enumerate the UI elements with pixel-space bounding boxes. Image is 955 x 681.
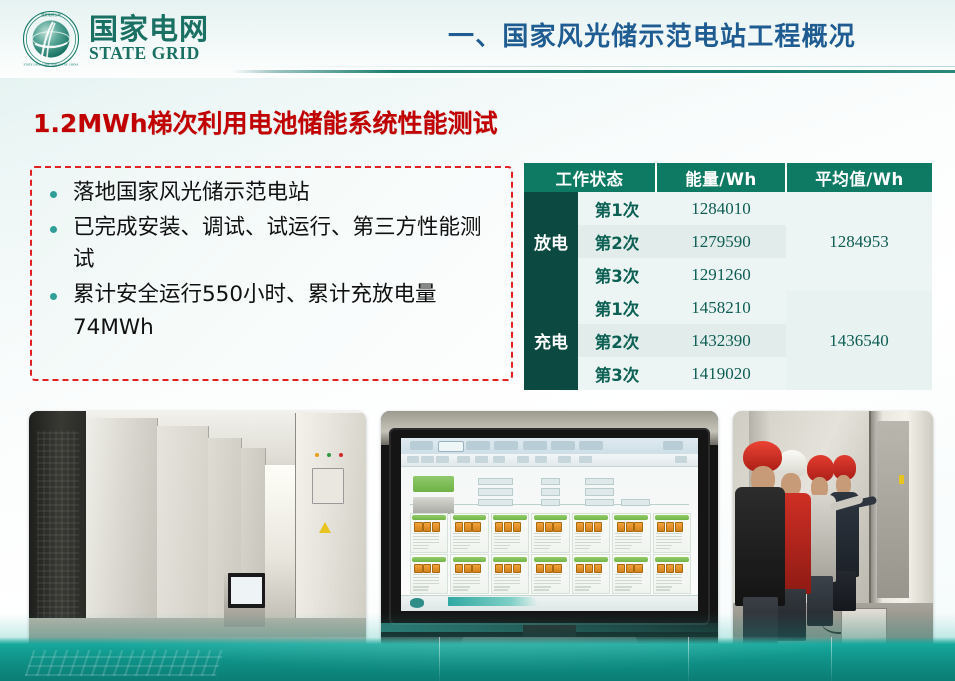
slide-root: 国家电网公司 STATE GRID CORPORATION OF CHINA 国… (0, 0, 955, 681)
energy-value: 1291260 (656, 258, 786, 291)
bullet-dot-icon (50, 191, 57, 198)
state-grid-wordmark: 国家电网 STATE GRID (89, 14, 209, 65)
table-row: 放电 第1次 1284010 1284953 (524, 192, 932, 225)
state-grid-logo: 国家电网公司 STATE GRID CORPORATION OF CHINA 国… (22, 10, 209, 68)
column-header-average: 平均值/Wh (786, 163, 932, 192)
highlights-box: 落地国家风光储示范电站 已完成安装、调试、试运行、第三方性能测试 累计安全运行5… (30, 166, 513, 381)
run-label: 第1次 (578, 291, 656, 324)
column-header-state: 工作状态 (524, 163, 656, 192)
header-divider-light (260, 66, 955, 67)
energy-value: 1458210 (656, 291, 786, 324)
slide-footer-band (0, 637, 955, 681)
average-value-discharge: 1284953 (786, 192, 932, 291)
svg-text:STATE GRID CORPORATION OF CHIN: STATE GRID CORPORATION OF CHINA (23, 63, 79, 67)
state-cell-charge: 充电 (524, 291, 578, 390)
header-divider (232, 70, 955, 73)
energy-value: 1432390 (656, 324, 786, 357)
list-item: 已完成安装、调试、试运行、第三方性能测试 (42, 212, 499, 277)
run-label: 第1次 (578, 192, 656, 225)
bullet-dot-icon (50, 226, 57, 233)
state-cell-discharge: 放电 (524, 192, 578, 291)
section-heading: 一、国家风光储示范电站工程概况 (448, 16, 856, 53)
logo-chinese-text: 国家电网 (89, 14, 209, 44)
energy-value: 1284010 (656, 192, 786, 225)
svg-text:国家电网公司: 国家电网公司 (41, 12, 61, 17)
column-header-energy: 能量/Wh (656, 163, 786, 192)
page-title: 1.2MWh梯次利用电池储能系统性能测试 (33, 104, 498, 140)
list-item-label: 累计安全运行550小时、累计充放电量74MWh (73, 279, 499, 344)
list-item: 累计安全运行550小时、累计充放电量74MWh (42, 279, 499, 344)
list-item-label: 已完成安装、调试、试运行、第三方性能测试 (73, 212, 499, 277)
energy-value: 1419020 (656, 357, 786, 390)
run-label: 第2次 (578, 225, 656, 258)
slide-header: 国家电网公司 STATE GRID CORPORATION OF CHINA 国… (0, 0, 955, 78)
solar-panel-graphic (24, 650, 224, 676)
run-label: 第2次 (578, 324, 656, 357)
energy-test-table: 工作状态 能量/Wh 平均值/Wh 放电 第1次 1284010 1284953… (524, 163, 932, 390)
bullet-dot-icon (50, 293, 57, 300)
table-header-row: 工作状态 能量/Wh 平均值/Wh (524, 163, 932, 192)
state-grid-globe-logo: 国家电网公司 STATE GRID CORPORATION OF CHINA (22, 10, 80, 68)
list-item: 落地国家风光储示范电站 (42, 177, 499, 210)
energy-value: 1279590 (656, 225, 786, 258)
logo-en-grid: GRID (152, 43, 200, 63)
logo-en-state: STATE (89, 43, 147, 63)
average-value-charge: 1436540 (786, 291, 932, 390)
run-label: 第3次 (578, 357, 656, 390)
list-item-label: 落地国家风光储示范电站 (73, 177, 310, 210)
run-label: 第3次 (578, 258, 656, 291)
table-row: 充电 第1次 1458210 1436540 (524, 291, 932, 324)
logo-english-text: STATE GRID (89, 45, 209, 63)
